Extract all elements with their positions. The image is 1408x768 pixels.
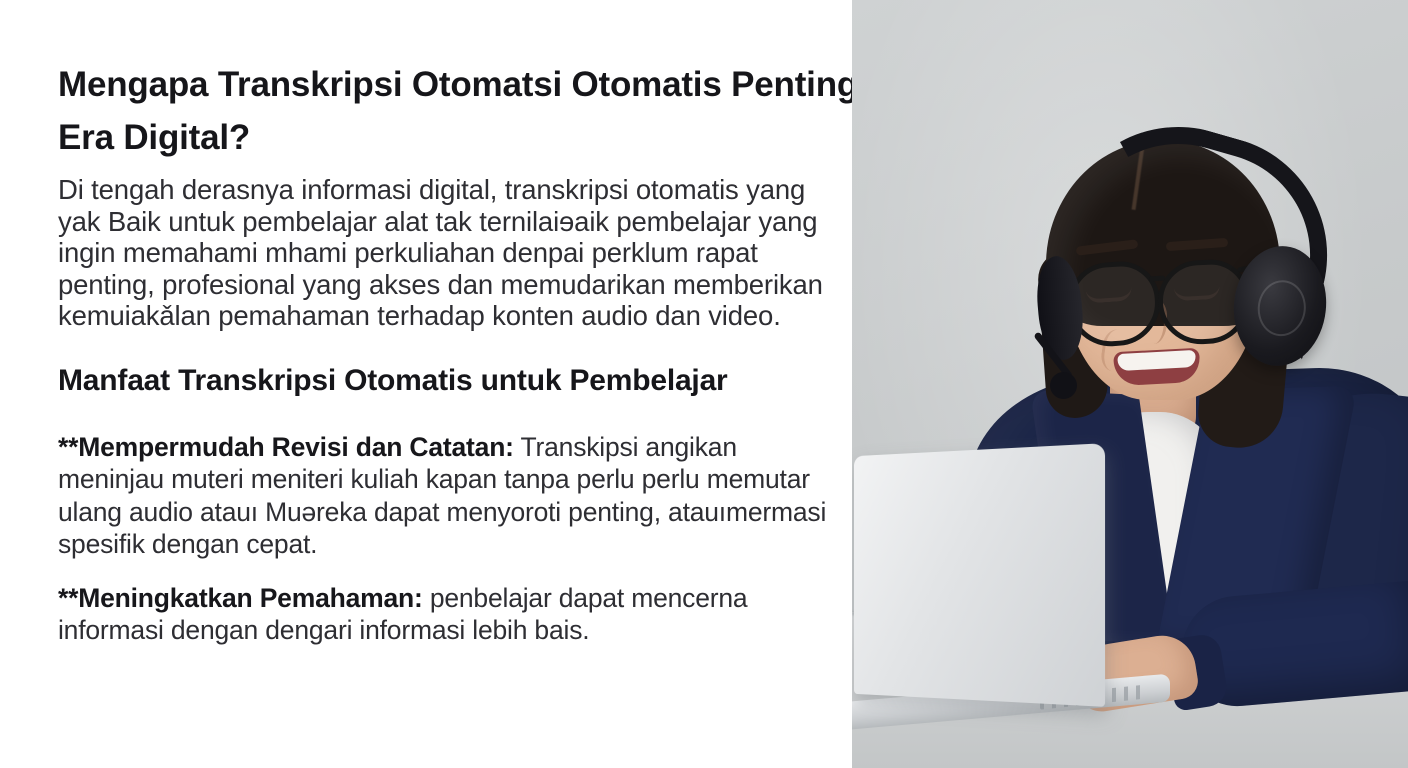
benefit-item-2-marker: ** — [58, 583, 78, 613]
benefit-item-1: **Mempermudah Revisi dan Catatan: Transk… — [58, 431, 838, 561]
benefit-item-1-title: Mempermudah Revisi dan Catatan: — [78, 432, 514, 462]
benefit-item-2: **Meningkatkan Pemahaman: penbelajar dap… — [58, 582, 838, 647]
page-title-line2: Era Digital? — [58, 111, 838, 164]
teeth — [1117, 350, 1196, 371]
hero-photo — [852, 0, 1408, 768]
benefit-item-1-marker: ** — [58, 432, 78, 462]
section-subheading: Manfaat Transkripsi Otomatis untuk Pembe… — [58, 361, 838, 401]
microphone-boom-icon-tip — [1050, 372, 1077, 399]
text-panel: Mengapa Transkripsi Otomatsi Otomatis Pe… — [0, 0, 852, 768]
page-title-line1: Mengapa Transkripsi Otomatsi Otomatis Pe… — [58, 58, 838, 111]
laptop-icon-lid — [854, 443, 1105, 707]
benefit-item-2-title: Meningkatkan Pemahaman: — [78, 583, 422, 613]
slide-root: Mengapa Transkripsi Otomatsi Otomatis Pe… — [0, 0, 1408, 768]
intro-paragraph: Di tengah derasnya informasi digital, tr… — [58, 174, 838, 332]
